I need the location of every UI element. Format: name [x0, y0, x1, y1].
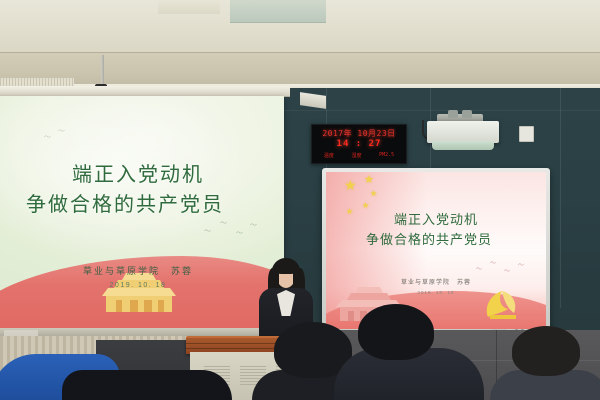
ceiling-light-fixture	[230, 0, 326, 23]
wall-seam	[560, 88, 561, 308]
flag-star-icon: ★	[344, 180, 357, 191]
slide-title-line1: 端正入党动机	[326, 210, 546, 230]
projector-mount-knob	[448, 110, 458, 118]
led-display-board: 2017年 10月23日 14 : 27 温度 湿度 PM2.5	[311, 124, 407, 164]
projection-screen: 〜 〜 〜 〜 〜 〜 端正入党动机 争做合格的共产党员 草业与草原学院 苏蓉 …	[0, 96, 284, 328]
slide-title-line2: 争做合格的共产党员	[326, 230, 546, 250]
ceiling-soffit	[0, 52, 600, 86]
slide-date-line: 2019. 10. 18	[326, 290, 546, 295]
bird-icon: 〜	[476, 264, 482, 273]
projector-body: SONY	[427, 121, 499, 143]
led-cell-pm25: PM2.5	[379, 152, 394, 159]
audience-member	[490, 330, 600, 400]
audience-member	[62, 370, 222, 400]
party-emblem-icon	[478, 283, 522, 323]
bird-icon: 〜	[204, 226, 211, 236]
bird-icon: 〜	[58, 126, 65, 136]
slide-title: 端正入党动机 争做合格的共产党员	[0, 160, 284, 220]
ceiling	[0, 0, 600, 58]
slide-date-line: 2019. 10. 18	[0, 282, 284, 289]
flag-star-icon: ★	[364, 175, 374, 186]
bird-icon: 〜	[518, 260, 524, 269]
lecture-hall-photo: 〜 〜 〜 〜 〜 〜 端正入党动机 争做合格的共产党员 草业与草原学院 苏蓉 …	[0, 0, 600, 400]
wall-switch-plate[interactable]	[519, 126, 534, 142]
slide-title-line2: 争做合格的共产党员	[0, 190, 284, 220]
led-cell-temperature: 温度	[324, 152, 334, 159]
ceiling-light-secondary	[158, 0, 220, 14]
bird-icon: 〜	[44, 132, 51, 142]
slide-title: 端正入党动机 争做合格的共产党员	[326, 210, 546, 250]
projector-mount-knob	[462, 110, 472, 118]
bird-icon: 〜	[250, 220, 257, 230]
led-time-text: 14 : 27	[315, 139, 403, 149]
bird-icon: 〜	[504, 266, 510, 275]
bird-icon: 〜	[490, 258, 496, 267]
bird-icon: 〜	[236, 228, 243, 238]
slide-presenter-line: 草业与草原学院 苏蓉	[326, 277, 546, 286]
led-footer-row: 温度 湿度 PM2.5	[315, 152, 403, 159]
led-cell-humidity: 湿度	[351, 152, 361, 159]
audience-member	[348, 308, 480, 400]
slide-presenter-line: 草业与草原学院 苏蓉	[0, 264, 284, 277]
slide-title-line1: 端正入党动机	[0, 160, 284, 190]
flag-star-icon: ★	[370, 188, 377, 199]
smart-board-display: ★ ★ ★ ★ ★ 〜 〜 〜	[326, 172, 546, 329]
projector-lens	[432, 141, 494, 150]
led-date-text: 2017年 10月23日	[315, 128, 403, 139]
